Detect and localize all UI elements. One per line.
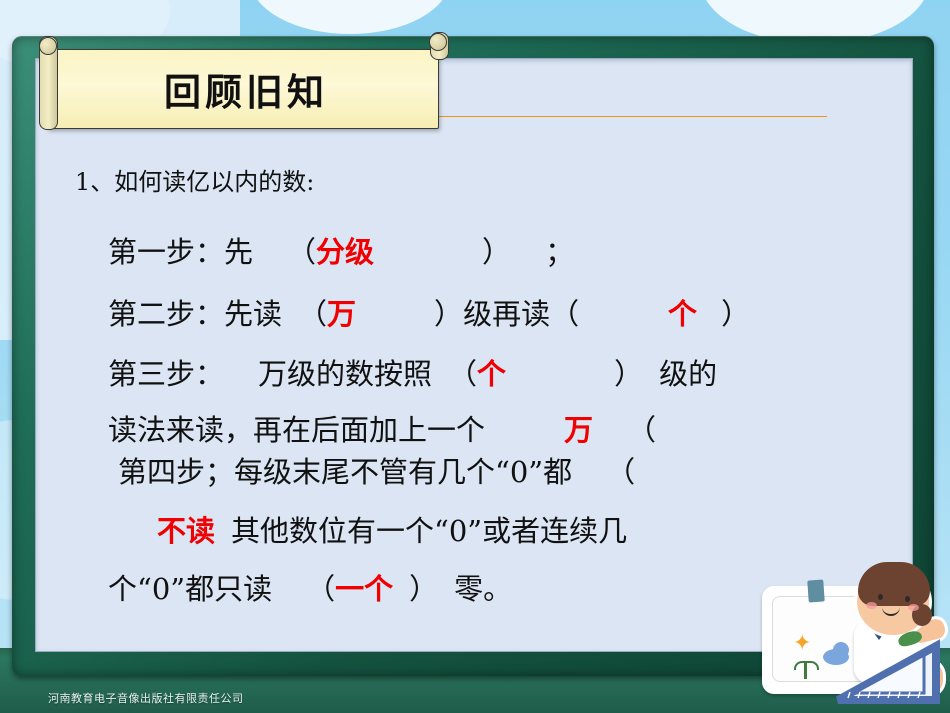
step-3-answer: 个 <box>477 357 506 391</box>
step-4-line3-paren-close: ） <box>409 572 438 606</box>
cartoon-child-illustration: ✦ <box>762 558 950 708</box>
child-hair <box>858 562 930 606</box>
board-clip-icon <box>807 579 824 602</box>
step-2-paren-open: （ <box>298 297 327 331</box>
child-cheek-left <box>866 602 877 609</box>
scroll-knob-right-icon <box>429 33 447 51</box>
step-4-line: 第四步；每级末尾不管有几个“0”都（ <box>118 458 635 487</box>
triangle-ruler-icon <box>832 636 942 708</box>
step-3-tail: 级的 <box>659 357 717 391</box>
step-4-paren-open: （ <box>606 455 635 489</box>
step-2-label: 第二步：先读 <box>108 297 282 331</box>
step-2-tail: ） <box>721 297 750 331</box>
step-1-label: 第一步：先 <box>108 235 253 269</box>
step-3-paren-open: （ <box>448 357 477 391</box>
step-1-answer: 分级 <box>316 235 374 269</box>
step-4-line3-tail: 零。 <box>454 572 512 606</box>
step-2-answer: 万 <box>327 297 356 331</box>
step-4-line-2: 不读其他数位有一个“0”或者连续几 <box>157 517 627 546</box>
step-1-paren-open: （ <box>287 235 316 269</box>
child-cheek-right <box>908 604 919 611</box>
child-eye-left <box>878 594 883 600</box>
step-2-paren-close: ） <box>434 297 463 331</box>
step-1-line: 第一步：先（分级）； <box>108 238 574 267</box>
slide-root: 回顾旧知 1、如何读亿以内的数: 第一步：先（分级）； 第二步：先读（万）级再读… <box>0 0 950 713</box>
step-4-line2-text: 其他数位有一个“0”或者连续几 <box>231 514 627 548</box>
step-3-line2-answer-overlay: 万 <box>564 416 593 445</box>
step-3-paren-close: ） <box>614 357 643 391</box>
step-2-middle: 级再读（ <box>463 297 579 331</box>
step-4-label: 第四步； <box>118 455 234 489</box>
step-3-line: 第三步：万级的数按照（个）级的 <box>108 360 717 389</box>
step-4-line3-a: 个“0”都只读 <box>108 572 272 606</box>
step-1-tail: ； <box>545 235 574 269</box>
step-2-answer-2-overlay: 个 <box>668 300 697 329</box>
sprout-doodle-leaf-right-icon <box>805 661 819 670</box>
step-3-label: 第三步： <box>108 357 224 391</box>
step-4-line-3: 个“0”都只读（一个）零。 <box>108 575 512 604</box>
step-2-line: 第二步：先读（万）级再读（） <box>108 300 750 329</box>
step-3-body: 万级的数按照 <box>258 357 432 391</box>
step-4-body: 每级末尾不管有几个“0”都 <box>234 455 572 489</box>
step-4-line3-paren-open: （ <box>306 572 335 606</box>
publisher-watermark: 河南教育电子音像出版社有限责任公司 <box>48 690 244 706</box>
step-4-line3-answer: 一个 <box>335 572 393 606</box>
step-1-paren-close: ） <box>482 235 511 269</box>
step-3-line2-paren: （ <box>627 413 656 447</box>
child-eye-right <box>905 596 910 602</box>
question-line: 1、如何读亿以内的数: <box>75 170 314 194</box>
step-4-answer: 不读 <box>157 514 215 548</box>
step-3-line2-a: 读法来读，再在后面加上一个 <box>108 413 485 447</box>
